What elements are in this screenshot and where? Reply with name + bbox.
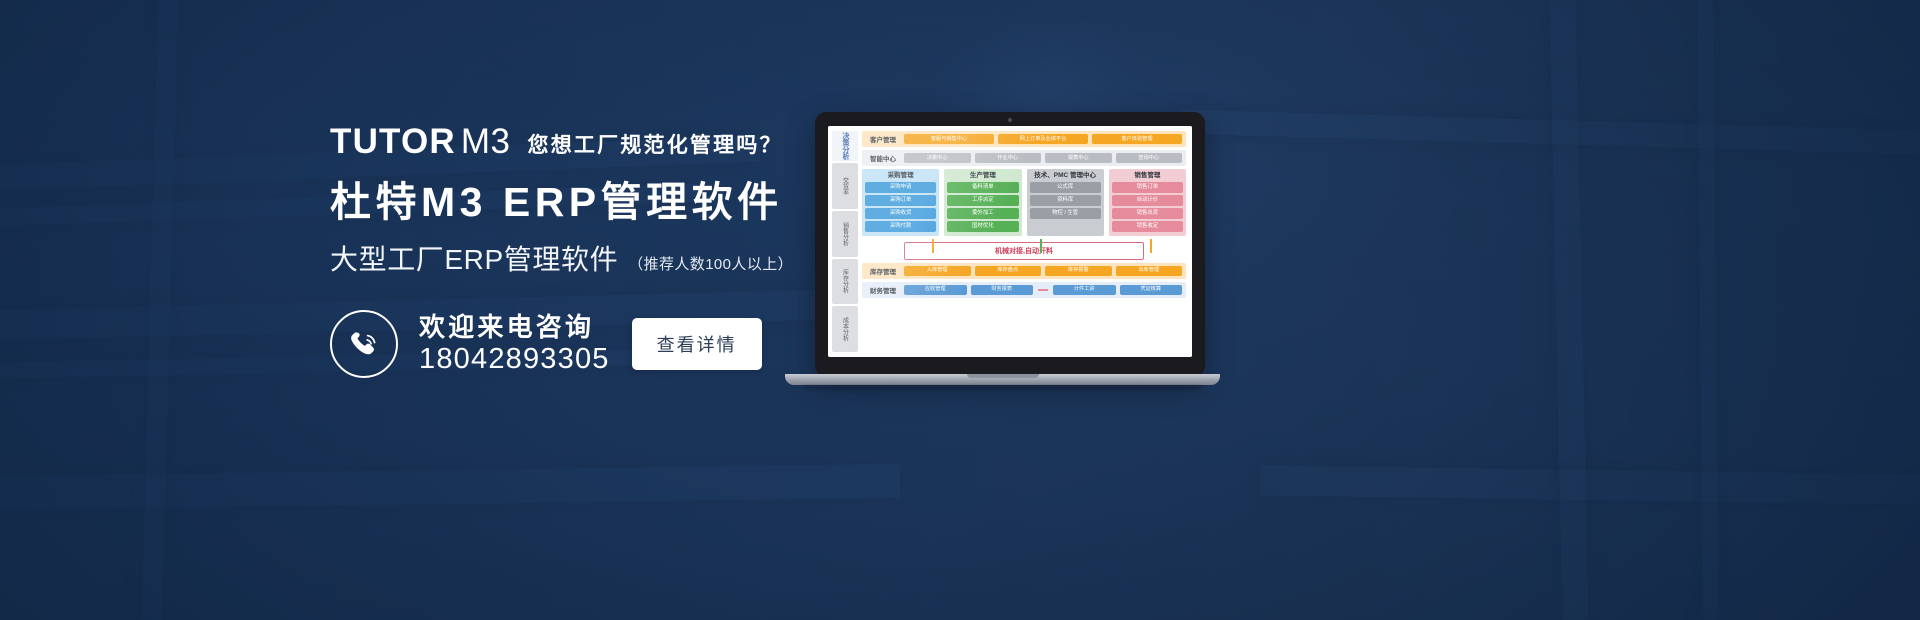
erp-column-head: 采购管理: [865, 172, 936, 179]
contact-row: 欢迎来电咨询 18042893305 查看详情: [330, 310, 762, 378]
erp-column-production: 生产管理 备料清单 工序派定 委外加工 国材优化: [944, 169, 1021, 235]
erp-column-item: 委外加工: [947, 208, 1018, 218]
erp-row-finance-label: 财务管理: [866, 285, 900, 295]
hero-banner: TUTOR M3 您想工厂规范化管理吗？ 杜特M3 ERP管理软件 大型工厂ER…: [0, 0, 1920, 620]
erp-column-group: 采购管理 采购申请 采购订单 采购收货 采购付款 生产管理 备料清单 工序派定 …: [862, 169, 1186, 235]
erp-column-item: 销售收定: [1112, 221, 1183, 231]
erp-sidebar-item-1: 销售分析: [832, 211, 858, 257]
erp-chip: 客户体验管理: [1092, 134, 1182, 144]
erp-chip: 库存盘点: [975, 266, 1042, 276]
erp-chip: 客服与销售中心: [904, 134, 994, 144]
erp-column-item: 采购订单: [865, 195, 936, 205]
subtitle-row: 大型工厂ERP管理软件 （推荐人数100人以上）: [330, 238, 793, 278]
erp-column-item: 国材优化: [947, 221, 1018, 231]
erp-row-smart-label: 智能中心: [866, 153, 900, 163]
laptop-camera-icon: [1008, 118, 1012, 122]
page-title: 杜特M3 ERP管理软件: [330, 178, 783, 226]
erp-chip: 计件工资: [1053, 285, 1116, 295]
erp-column-item: 采购申请: [865, 182, 936, 192]
brand-logo: TUTOR M3: [330, 124, 511, 159]
erp-chip: 出库管理: [1116, 266, 1183, 276]
erp-column-item: 工序派定: [947, 195, 1018, 205]
erp-main-area: 客户管理 客服与销售中心 网上订单及业绩平台 客户体验管理 智能中心 决策中心 …: [862, 131, 1186, 352]
laptop-base: [785, 374, 1220, 385]
erp-column-item: 销售出货: [1112, 208, 1183, 218]
contact-welcome-label: 欢迎来电咨询: [419, 314, 610, 341]
erp-row-finance: 财务管理 应收管理 财务报表 计件工资 凭证核算: [862, 282, 1186, 298]
erp-row-customer-label: 客户管理: [866, 134, 900, 144]
brand-row: TUTOR M3 您想工厂规范化管理吗？: [330, 124, 783, 159]
erp-column-head: 生产管理: [947, 172, 1018, 179]
arrow-down-icon: [1150, 239, 1152, 253]
erp-column-item: 物控 / 生管: [1030, 208, 1101, 218]
erp-sidebar-item-3: 成本分析: [832, 306, 858, 352]
erp-row-inventory: 库存管理 入库管理 库存盘点 库存报警 出库管理: [862, 263, 1186, 279]
erp-chip: 应收管理: [904, 285, 967, 295]
erp-chip: 库存报警: [1045, 266, 1112, 276]
erp-highlight-banner: 机械对接,自动开料: [904, 242, 1144, 260]
logo-suffix: M3: [461, 124, 511, 159]
erp-row-smart-center: 智能中心 决策中心 作业中心 报表中心 查询中心: [862, 150, 1186, 166]
erp-chip: 作业中心: [975, 153, 1042, 163]
erp-sidebar-title: 决策分析: [832, 131, 858, 161]
brand-tagline: 您想工厂规范化管理吗？: [528, 135, 783, 156]
erp-sidebar-item-0: 交货率: [832, 163, 858, 209]
phone-ring-icon: [330, 310, 398, 378]
erp-chip: 查询中心: [1116, 153, 1183, 163]
laptop-mockup: 决策分析 交货率 销售分析 库存分析 成本分析 客户管理 客服与销售中心 网上订…: [785, 112, 1220, 397]
erp-chip: 财务报表: [971, 285, 1034, 295]
erp-column-item: 销售订单: [1112, 182, 1183, 192]
erp-column-tech-pmc: 技术、PMC 管理中心 公式库 资料库 物控 / 生管: [1027, 169, 1104, 235]
erp-column-item: 采购收货: [865, 208, 936, 218]
erp-chip: 报表中心: [1045, 153, 1112, 163]
erp-row-customer: 客户管理 客服与销售中心 网上订单及业绩平台 客户体验管理: [862, 131, 1186, 147]
erp-architecture-diagram: 决策分析 交货率 销售分析 库存分析 成本分析 客户管理 客服与销售中心 网上订…: [828, 126, 1192, 357]
erp-chip: 网上订单及业绩平台: [998, 134, 1088, 144]
arrow-down-icon: [1040, 239, 1042, 253]
erp-row-inventory-label: 库存管理: [866, 266, 900, 276]
logo-wordmark: TUTOR: [330, 124, 456, 159]
erp-column-item: 资料库: [1030, 195, 1101, 205]
contact-text: 欢迎来电咨询 18042893305: [419, 314, 610, 374]
erp-column-purchasing: 采购管理 采购申请 采购订单 采购收货 采购付款: [862, 169, 939, 235]
erp-column-sales: 销售管理 销售订单 自动计价 销售出货 销售收定: [1109, 169, 1186, 235]
erp-chip: 决策中心: [904, 153, 971, 163]
erp-column-item: 备料清单: [947, 182, 1018, 192]
erp-chip: 入库管理: [904, 266, 971, 276]
erp-column-head: 销售管理: [1112, 172, 1183, 179]
laptop-lid: 决策分析 交货率 销售分析 库存分析 成本分析 客户管理 客服与销售中心 网上订…: [815, 112, 1205, 377]
page-subtitle-note: （推荐人数100人以上）: [628, 253, 793, 274]
arrow-down-icon: [932, 239, 934, 253]
erp-column-item: 采购付款: [865, 221, 936, 231]
page-subtitle: 大型工厂ERP管理软件: [330, 238, 618, 278]
erp-column-item: 公式库: [1030, 182, 1101, 192]
erp-column-item: 自动计价: [1112, 195, 1183, 205]
view-details-button[interactable]: 查看详情: [632, 318, 762, 370]
erp-sidebar-item-2: 库存分析: [832, 259, 858, 305]
laptop-screen: 决策分析 交货率 销售分析 库存分析 成本分析 客户管理 客服与销售中心 网上订…: [828, 126, 1192, 357]
erp-column-head: 技术、PMC 管理中心: [1030, 172, 1101, 179]
laptop-shadow: [803, 385, 1202, 390]
erp-sidebar: 决策分析 交货率 销售分析 库存分析 成本分析: [832, 131, 858, 352]
contact-phone-number[interactable]: 18042893305: [419, 344, 610, 374]
erp-chip: 凭证核算: [1120, 285, 1183, 295]
connector-line-icon: [1038, 289, 1048, 291]
